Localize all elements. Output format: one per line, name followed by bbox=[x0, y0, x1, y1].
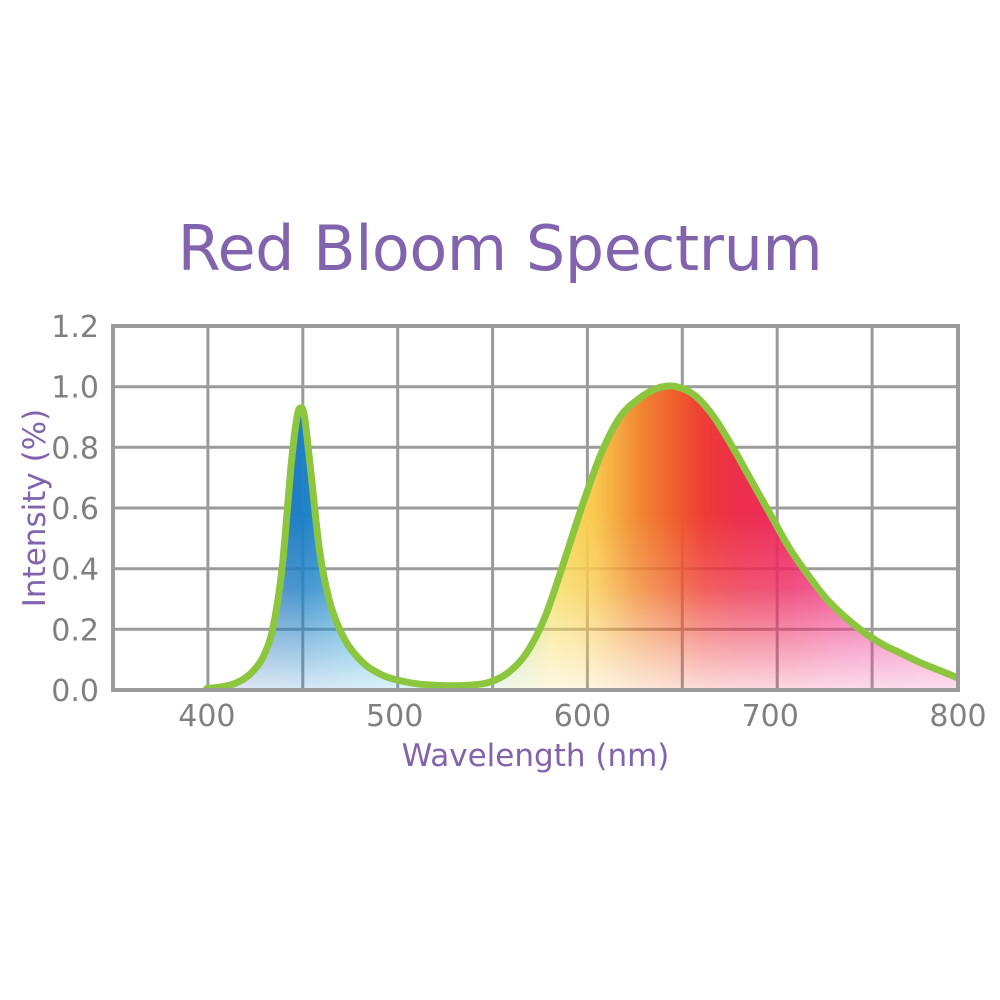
spectrum-plot: 0.00.20.40.60.81.01.2 400500600700800 Wa… bbox=[0, 0, 1000, 1000]
y-axis-tick-labels: 0.00.20.40.60.81.01.2 bbox=[51, 310, 99, 709]
y-tick-label: 1.2 bbox=[51, 310, 99, 345]
y-tick-label: 1.0 bbox=[51, 371, 99, 406]
x-axis-tick-labels: 400500600700800 bbox=[178, 699, 986, 734]
x-tick-label: 400 bbox=[178, 699, 235, 734]
y-tick-label: 0.2 bbox=[51, 613, 99, 648]
x-tick-label: 600 bbox=[554, 699, 611, 734]
x-tick-label: 700 bbox=[742, 699, 799, 734]
y-tick-label: 0.6 bbox=[51, 492, 99, 527]
y-axis-title: Intensity (%) bbox=[17, 409, 53, 607]
spectrum-chart-figure: Red Bloom Spectrum bbox=[0, 0, 1000, 1000]
y-tick-label: 0.4 bbox=[51, 553, 99, 588]
x-tick-label: 500 bbox=[366, 699, 423, 734]
x-axis-title: Wavelength (nm) bbox=[402, 738, 670, 774]
x-tick-label: 800 bbox=[929, 699, 986, 734]
y-tick-label: 0.8 bbox=[51, 431, 99, 466]
y-tick-label: 0.0 bbox=[51, 674, 99, 709]
